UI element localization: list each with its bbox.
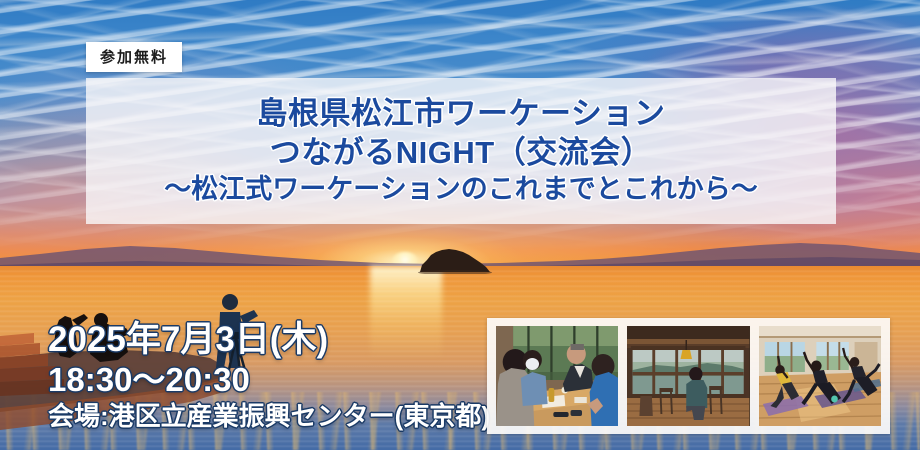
event-venue: 会場:港区立産業振興センター(東京都): [48, 403, 490, 430]
event-date: 2025年7月3日(木): [48, 322, 490, 359]
event-banner: 参加無料 島根県松江市ワーケーション つながるNIGHT（交流会） 〜松江式ワー…: [0, 0, 920, 450]
event-info-block: 2025年7月3日(木) 18:30〜20:30 会場:港区立産業振興センター(…: [48, 322, 490, 431]
title-line-1: 島根県松江市ワーケーション: [257, 96, 666, 133]
yomegashima-island-silhouette: [416, 248, 494, 274]
free-admission-badge-label: 参加無料: [100, 50, 168, 65]
meeting-discussion-photo: [496, 326, 618, 426]
yoga-session-photo: [759, 326, 881, 426]
title-block: 島根県松江市ワーケーション つながるNIGHT（交流会） 〜松江式ワーケーション…: [86, 78, 836, 224]
title-subtitle: 〜松江式ワーケーションのこれまでとこれから〜: [164, 174, 757, 206]
event-time: 18:30〜20:30: [48, 363, 490, 398]
lakeside-coworking-photo: [627, 326, 749, 426]
free-admission-badge: 参加無料: [86, 42, 182, 72]
title-line-2: つながるNIGHT（交流会）: [270, 135, 652, 172]
photo-strip: [487, 318, 890, 434]
